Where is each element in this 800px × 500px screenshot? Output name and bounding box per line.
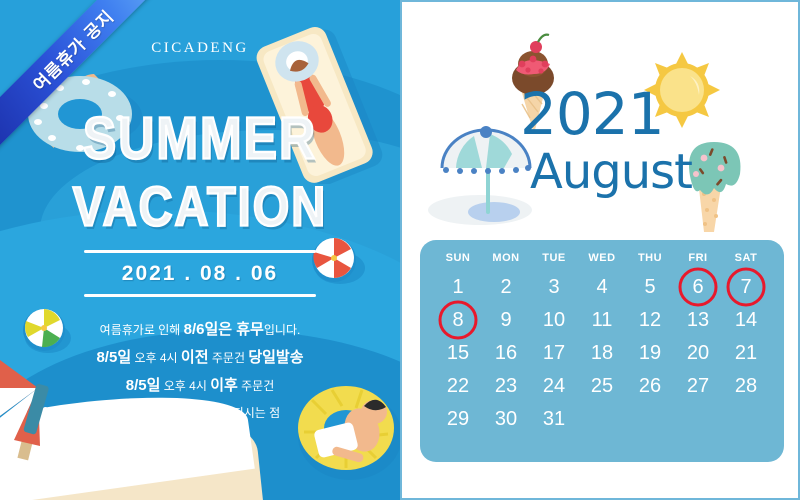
notice-line: 8/5일 오후 4시 이전 주문건 당일발송 [0, 344, 400, 372]
calendar-day[interactable]: 3 [530, 270, 578, 303]
calendar-day-number: 14 [735, 310, 757, 330]
calendar-day-number: 19 [639, 343, 661, 363]
calendar-day-number: 22 [447, 376, 469, 396]
corner-ribbon-label: 여름휴가 공지 [26, 3, 118, 95]
calendar-day-number: 1 [452, 277, 463, 297]
calendar-day-highlighted[interactable]: 7 [722, 270, 770, 303]
notice-text: 참고부탁드립니다. [154, 432, 246, 446]
calendar-day-number: 17 [543, 343, 565, 363]
calendar-day[interactable]: 14 [722, 303, 770, 336]
calendar-day-number: 3 [548, 277, 559, 297]
calendar-day-number: 31 [543, 409, 565, 429]
calendar-day[interactable]: 10 [530, 303, 578, 336]
calendar-day-number: 30 [495, 409, 517, 429]
notice-text: 여름휴가로 인해 [100, 323, 184, 337]
calendar-day[interactable]: 22 [434, 369, 482, 402]
calendar-day[interactable]: 19 [626, 336, 674, 369]
notice-emphasis: 이후 [210, 377, 238, 394]
calendar-day[interactable]: 5 [626, 270, 674, 303]
calendar-header-illustration: 2021 August [402, 2, 800, 237]
corner-ribbon-band: 여름휴가 공지 [0, 0, 175, 153]
calendar-day[interactable]: 2 [482, 270, 530, 303]
calendar-day[interactable]: 21 [722, 336, 770, 369]
calendar-day[interactable]: 12 [626, 303, 674, 336]
calendar-day-number: 12 [639, 310, 661, 330]
notice-text-block: 여름휴가로 인해 8/6일은 휴무입니다.8/5일 오후 4시 이전 주문건 당… [0, 316, 400, 451]
calendar-day-number: 29 [447, 409, 469, 429]
calendar-day-highlighted[interactable]: 6 [674, 270, 722, 303]
calendar-day[interactable]: 26 [626, 369, 674, 402]
notice-emphasis: 8/5일 [96, 349, 131, 366]
vacation-date: 2021 . 08 . 06 [50, 253, 350, 294]
notice-emphasis: 월요일 출고 [156, 404, 229, 421]
calendar-day-number: 27 [687, 376, 709, 396]
title-line-vacation: VACATION [0, 177, 400, 236]
notice-line: 참고부탁드립니다. [0, 427, 400, 451]
calendar-day[interactable]: 23 [482, 369, 530, 402]
notice-emphasis: 8/5일 [126, 377, 161, 394]
calendar-day-empty [626, 402, 674, 435]
calendar-day[interactable]: 30 [482, 402, 530, 435]
calendar-day-number: 9 [500, 310, 511, 330]
corner-ribbon: 여름휴가 공지 [0, 0, 175, 175]
calendar-month: August [530, 144, 692, 200]
notice-text: 주문건 [209, 351, 249, 365]
calendar-day-highlighted[interactable]: 8 [434, 303, 482, 336]
notice-line: 여름휴가로 인해 8/6일은 휴무입니다. [0, 316, 400, 344]
calendar-day-number: 28 [735, 376, 757, 396]
notice-text: 되시는 점 [229, 406, 280, 420]
calendar-day[interactable]: 16 [482, 336, 530, 369]
calendar-day-number: 23 [495, 376, 517, 396]
calendar-day-number: 26 [639, 376, 661, 396]
calendar-day[interactable]: 4 [578, 270, 626, 303]
calendar-day[interactable]: 13 [674, 303, 722, 336]
calendar-day-number: 8 [452, 310, 463, 330]
calendar-weekday-header: THU [626, 252, 674, 270]
calendar-weekday-header: SUN [434, 252, 482, 270]
notice-text: 다음주 [120, 406, 156, 420]
calendar-day-number: 4 [596, 277, 607, 297]
calendar-day-empty [722, 402, 770, 435]
calendar-day-number: 16 [495, 343, 517, 363]
calendar-day-number: 7 [740, 277, 751, 297]
calendar-grid: SUNMONTUEWEDTHUFRISAT1234567891011121314… [434, 252, 770, 435]
calendar-day[interactable]: 15 [434, 336, 482, 369]
calendar-day[interactable]: 28 [722, 369, 770, 402]
notice-emphasis: 당일발송 [248, 349, 303, 366]
calendar-day[interactable]: 25 [578, 369, 626, 402]
calendar-day-number: 25 [591, 376, 613, 396]
calendar-day-number: 6 [692, 277, 703, 297]
calendar-day[interactable]: 11 [578, 303, 626, 336]
calendar-day-empty [674, 402, 722, 435]
calendar-day[interactable]: 20 [674, 336, 722, 369]
calendar-weekday-header: MON [482, 252, 530, 270]
calendar-day-number: 15 [447, 343, 469, 363]
calendar-weekday-header: TUE [530, 252, 578, 270]
calendar-day-number: 2 [500, 277, 511, 297]
divider-bottom [84, 294, 316, 297]
calendar-year: 2021 [520, 80, 664, 148]
calendar-day[interactable]: 9 [482, 303, 530, 336]
calendar-day-number: 10 [543, 310, 565, 330]
summer-vacation-notice-poster: 여름휴가 공지 CICADENG SUMMER VACATION 2021 . … [0, 0, 800, 500]
calendar-day[interactable]: 18 [578, 336, 626, 369]
notice-text: 오후 4시 [131, 351, 181, 365]
notice-emphasis: 8/6일은 휴무 [184, 321, 264, 338]
calendar-day[interactable]: 1 [434, 270, 482, 303]
date-band: 2021 . 08 . 06 [50, 250, 350, 297]
calendar-panel: 2021 August SUNMONTUEWEDTHUFRISAT1234567… [400, 0, 800, 500]
calendar-day-empty [578, 402, 626, 435]
calendar-day[interactable]: 17 [530, 336, 578, 369]
calendar-day-number: 20 [687, 343, 709, 363]
calendar-day[interactable]: 29 [434, 402, 482, 435]
left-poster-panel: 여름휴가 공지 CICADENG SUMMER VACATION 2021 . … [0, 0, 400, 500]
notice-text: 주문건 [238, 379, 274, 393]
calendar-day-number: 13 [687, 310, 709, 330]
calendar-day-number: 21 [735, 343, 757, 363]
calendar-day[interactable]: 24 [530, 369, 578, 402]
calendar-day[interactable]: 31 [530, 402, 578, 435]
calendar-day-number: 5 [644, 277, 655, 297]
calendar-weekday-header: WED [578, 252, 626, 270]
notice-line: 다음주 월요일 출고 되시는 점 [0, 399, 400, 427]
calendar-day-number: 11 [592, 310, 613, 330]
notice-text: 입니다. [264, 323, 300, 337]
calendar-day-number: 24 [543, 376, 565, 396]
calendar-day-number: 18 [591, 343, 613, 363]
notice-text: 오후 4시 [160, 379, 210, 393]
notice-emphasis: 이전 [181, 349, 209, 366]
notice-line: 8/5일 오후 4시 이후 주문건 [0, 372, 400, 400]
calendar-card: SUNMONTUEWEDTHUFRISAT1234567891011121314… [420, 240, 784, 462]
calendar-day[interactable]: 27 [674, 369, 722, 402]
